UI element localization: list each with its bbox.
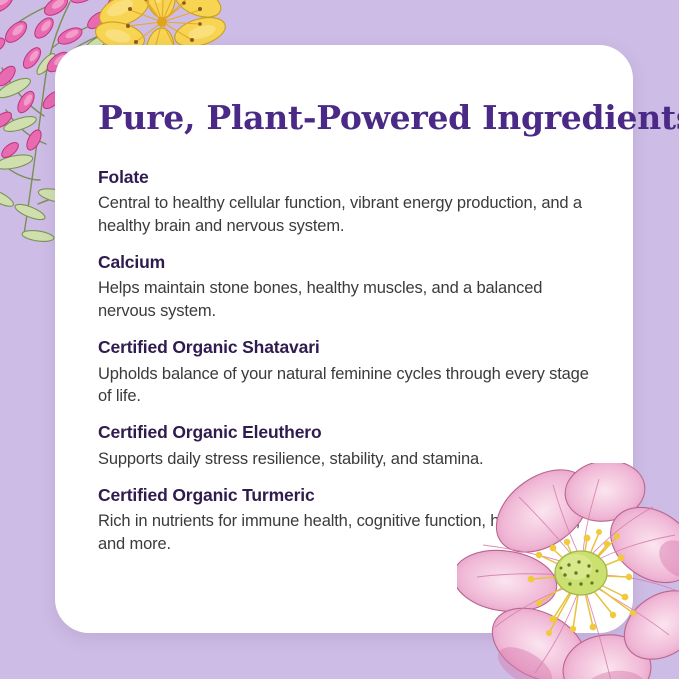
list-item: Certified Organic Eleuthero Supports dai… — [98, 421, 603, 470]
ingredient-name: Folate — [98, 166, 603, 190]
list-item: Certified Organic Shatavari Upholds bala… — [98, 336, 603, 408]
card-content: Pure, Plant-Powered Ingredients Folate C… — [98, 101, 603, 556]
ingredient-name: Certified Organic Shatavari — [98, 336, 603, 360]
ingredient-description: Supports daily stress resilience, stabil… — [98, 448, 598, 471]
list-item: Calcium Helps maintain stone bones, heal… — [98, 251, 603, 323]
list-item: Certified Organic Turmeric Rich in nutri… — [98, 484, 603, 556]
ingredients-card: Pure, Plant-Powered Ingredients Folate C… — [55, 45, 633, 633]
ingredient-description: Upholds balance of your natural feminine… — [98, 363, 598, 409]
ingredients-poster: Pure, Plant-Powered Ingredients Folate C… — [0, 0, 679, 679]
ingredient-description: Helps maintain stone bones, healthy musc… — [98, 277, 598, 323]
ingredient-description: Rich in nutrients for immune health, cog… — [98, 510, 598, 556]
page-title: Pure, Plant-Powered Ingredients — [98, 101, 603, 136]
ingredient-description: Central to healthy cellular function, vi… — [98, 192, 598, 238]
ingredient-name: Calcium — [98, 251, 603, 275]
list-item: Folate Central to healthy cellular funct… — [98, 166, 603, 238]
ingredient-name: Certified Organic Turmeric — [98, 484, 603, 508]
ingredient-name: Certified Organic Eleuthero — [98, 421, 603, 445]
